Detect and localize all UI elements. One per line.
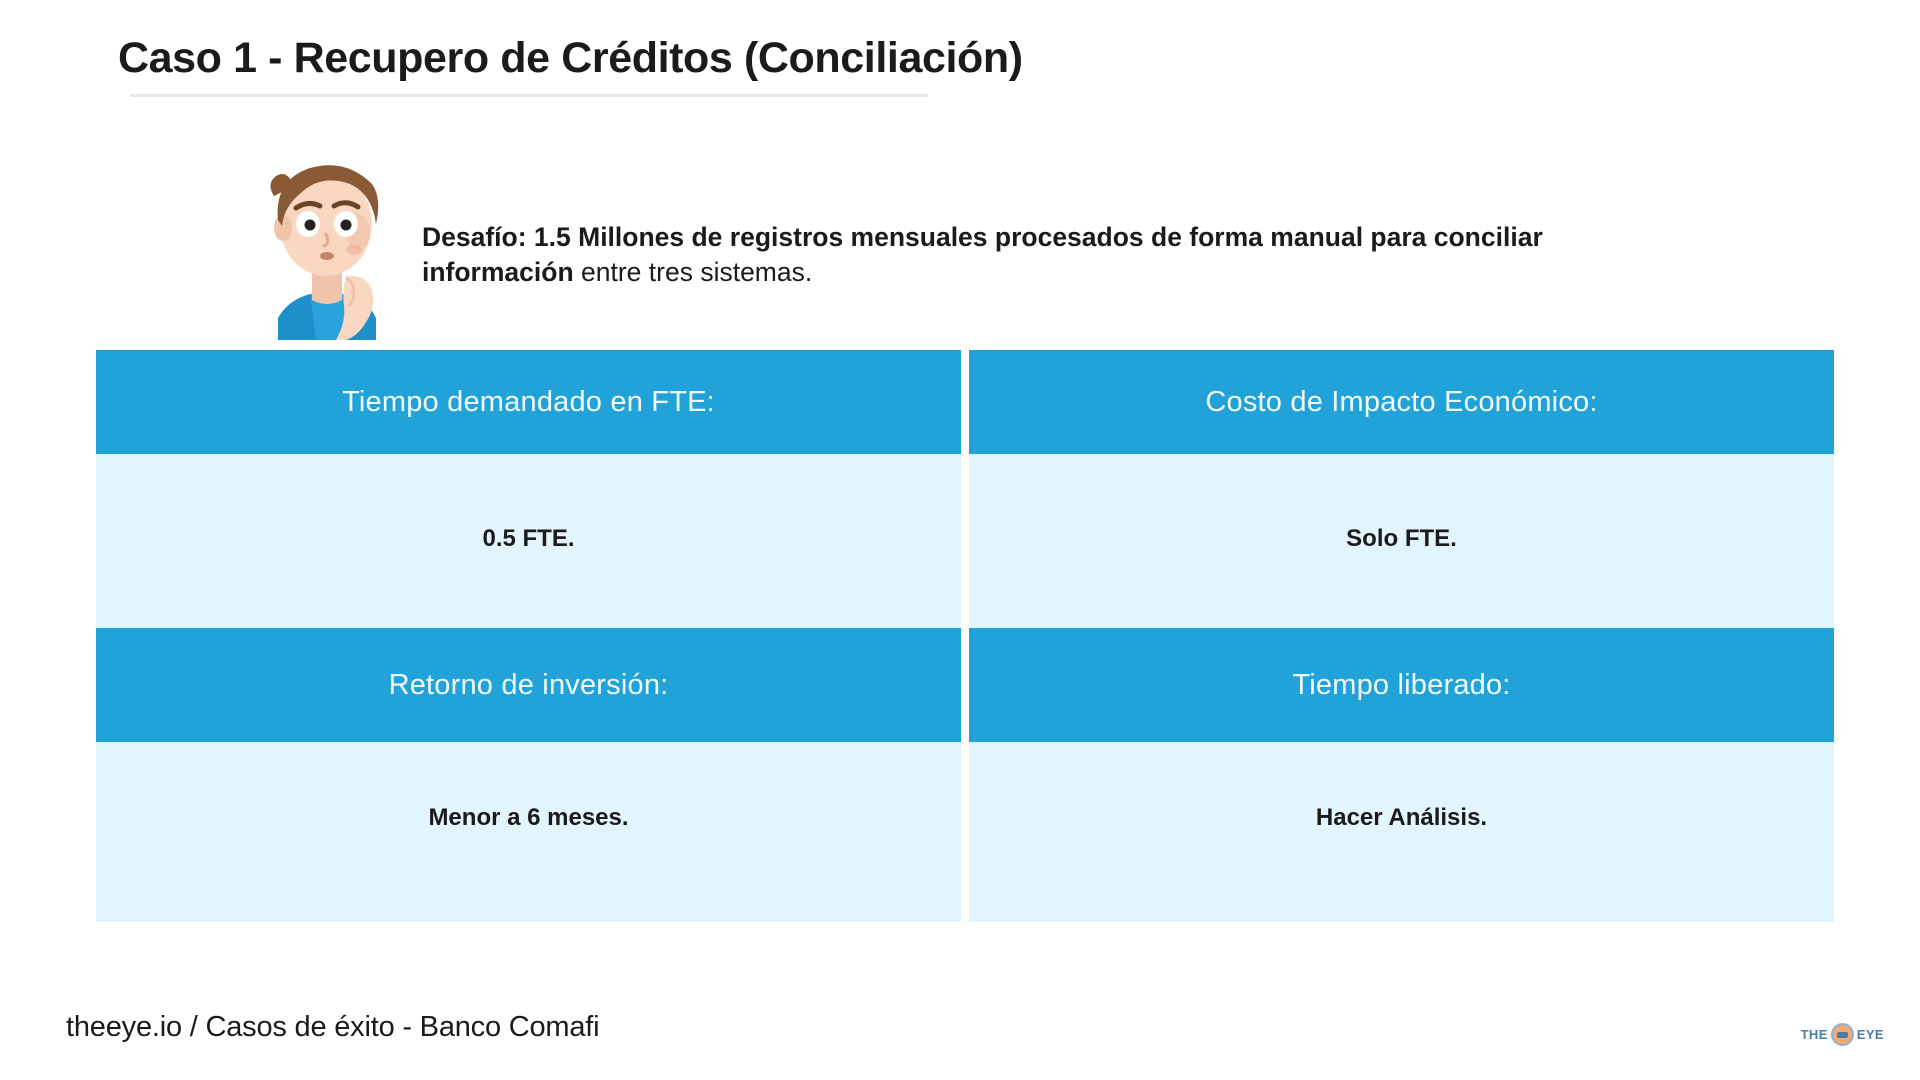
footer-caption: theeye.io / Casos de éxito - Banco Comaf… xyxy=(66,1011,599,1044)
eye-pupil-icon xyxy=(1837,1032,1848,1038)
page-title: Caso 1 - Recupero de Créditos (Conciliac… xyxy=(118,34,1218,83)
logo-word-the: THE xyxy=(1801,1027,1828,1042)
metric-header-tiempo-demandado: Tiempo demandado en FTE: xyxy=(96,350,961,454)
metric-header-tiempo-liberado: Tiempo liberado: xyxy=(969,628,1834,742)
logo-word-eye: EYE xyxy=(1857,1027,1884,1042)
metrics-table: Tiempo demandado en FTE: Costo de Impact… xyxy=(96,350,1834,922)
eye-mark-icon xyxy=(1831,1023,1854,1046)
metric-value-costo-impacto: Solo FTE. xyxy=(969,454,1834,630)
metric-header-retorno-inversion: Retorno de inversión: xyxy=(96,628,961,742)
metric-value-tiempo-liberado: Hacer Análisis. xyxy=(969,742,1834,922)
title-block: Caso 1 - Recupero de Créditos (Conciliac… xyxy=(118,34,1218,97)
title-underline-rule xyxy=(130,94,928,97)
metric-value-retorno-inversion: Menor a 6 meses. xyxy=(96,742,961,922)
metric-header-costo-impacto: Costo de Impacto Económico: xyxy=(969,350,1834,454)
thinking-person-illustration-icon xyxy=(250,150,400,340)
theeye-logo: THE EYE xyxy=(1801,1023,1884,1046)
slide-canvas: Caso 1 - Recupero de Créditos (Conciliac… xyxy=(0,0,1920,1080)
challenge-text-normal: entre tres sistemas. xyxy=(574,257,813,287)
metric-value-tiempo-demandado: 0.5 FTE. xyxy=(96,454,961,630)
challenge-text: Desafío: 1.5 Millones de registros mensu… xyxy=(422,150,1670,290)
challenge-block: Desafío: 1.5 Millones de registros mensu… xyxy=(250,150,1670,340)
